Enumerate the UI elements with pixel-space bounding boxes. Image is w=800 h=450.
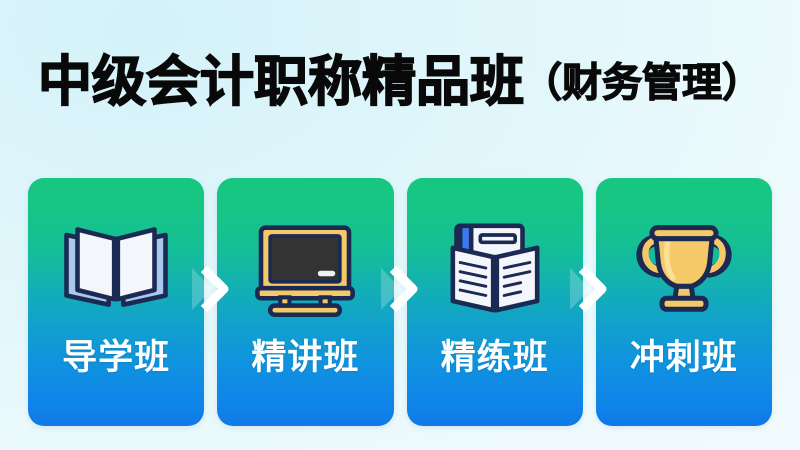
page-title-subject: （财务管理） (522, 63, 762, 103)
stage-label: 精练班 (441, 340, 549, 375)
page-title-main: 中级会计职称精品班 (38, 55, 524, 109)
stage-card-jingjiang[interactable]: 精讲班 (217, 178, 393, 426)
trophy-icon (629, 220, 739, 316)
blackboard-icon (250, 220, 360, 316)
stage-card-jinglian[interactable]: 精练班 (407, 178, 583, 426)
open-book-icon (61, 220, 171, 316)
stage-label: 冲刺班 (630, 340, 738, 375)
page-title: 中级会计职称精品班 （财务管理） (0, 42, 800, 122)
stage-card-chongci[interactable]: 冲刺班 (596, 178, 772, 426)
stage-card-daoxue[interactable]: 导学班 (28, 178, 204, 426)
stage-label: 导学班 (62, 340, 170, 375)
stage-label: 精讲班 (251, 340, 359, 375)
exercise-book-icon (440, 220, 550, 316)
course-stage-list: 导学班 精讲班 (28, 178, 772, 426)
